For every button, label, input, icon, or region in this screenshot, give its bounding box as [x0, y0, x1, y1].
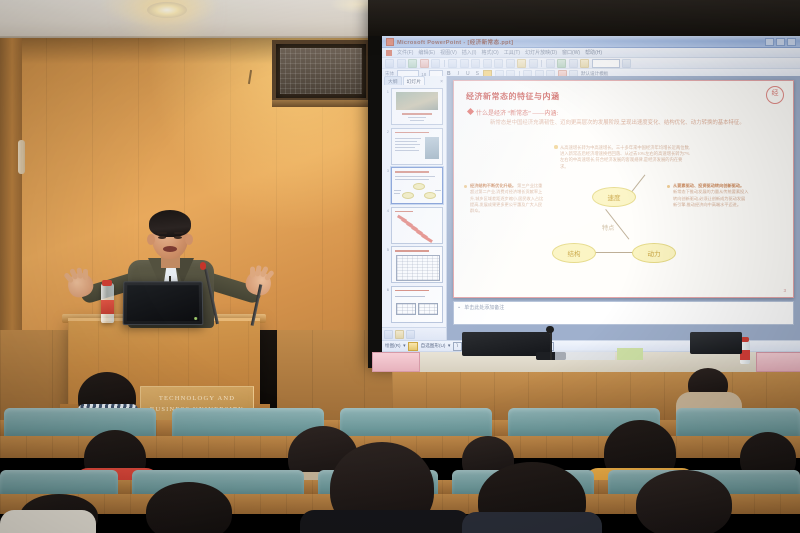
- slideshow-view-icon[interactable]: [406, 330, 415, 339]
- thumbnail-slide-3[interactable]: [391, 167, 443, 204]
- thumbnail-slide-6[interactable]: [391, 286, 443, 323]
- autoshapes-chevron-icon[interactable]: ▾: [448, 343, 451, 349]
- thumbnail-item[interactable]: 3: [385, 167, 443, 204]
- pane-tabs[interactable]: 大纲 幻灯片 ×: [382, 76, 446, 85]
- thumbnail-list[interactable]: 1 2: [382, 86, 446, 328]
- draw-chevron-icon[interactable]: ▾: [403, 343, 406, 349]
- powerpoint-body: 大纲 幻灯片 × 1: [382, 76, 800, 340]
- save-icon[interactable]: [408, 59, 417, 68]
- slide-bullet-text: 什么是经济 “新常态” ——内涵:: [476, 108, 558, 117]
- thumb-line: [435, 190, 441, 191]
- redo-icon[interactable]: [506, 59, 515, 68]
- seal-logo-icon: 经: [766, 86, 784, 104]
- thumbnail-item[interactable]: 4: [385, 207, 443, 244]
- thumb-line: [394, 193, 400, 194]
- toolbar-separator: [444, 60, 445, 67]
- thumb-line: [394, 190, 401, 191]
- speaker-ear-right: [185, 234, 193, 245]
- laptop-screen: [127, 285, 200, 321]
- menu-item-file[interactable]: 文件(F): [397, 49, 413, 56]
- sorter-view-icon[interactable]: [395, 330, 404, 339]
- sub-bullet-icon: [554, 145, 558, 149]
- notes-placeholder[interactable]: 单击此处添加备注: [464, 304, 504, 311]
- thumbnail-slide-5[interactable]: [391, 246, 443, 283]
- thumbnail-number: 2: [385, 128, 389, 134]
- thumbnail-slide-4[interactable]: [391, 207, 443, 244]
- right-note-body: 新常态下推动发展的力量从传统要素投入转向创新驱动,必须让创新成为驱动发展新引擎,…: [673, 189, 748, 207]
- zoom-combo[interactable]: [592, 59, 620, 68]
- thumb-line: [395, 296, 425, 297]
- thumb-line: [395, 179, 429, 180]
- powerpoint-title-bar: Microsoft PowerPoint - [经济新常态.ppt]: [382, 36, 800, 48]
- projection-screen: Microsoft PowerPoint - [经济新常态.ppt] 文件(F)…: [382, 36, 800, 362]
- thumb-node-right: [424, 192, 436, 199]
- maximize-button[interactable]: [776, 38, 785, 46]
- right-note-bullet-icon: [667, 185, 670, 188]
- diagram-node-structure[interactable]: 结构: [552, 243, 596, 263]
- left-note-bullet-icon: [464, 185, 467, 188]
- speaker-ear-left: [147, 234, 155, 245]
- slide-left-note[interactable]: 经济结构不断优化升级。 第三产业比重超过第二产业,消费对经济增长贡献率上升,城乡…: [470, 183, 546, 214]
- diamond-bullet-icon: [467, 108, 474, 115]
- chevron-down-icon[interactable]: ⌄: [457, 304, 461, 310]
- speaker-hair: [149, 210, 191, 237]
- name-plate-left: [372, 352, 420, 372]
- new-file-icon[interactable]: [385, 59, 394, 68]
- undo-icon[interactable]: [494, 59, 503, 68]
- close-button[interactable]: [787, 38, 796, 46]
- toolbar-separator-2: [541, 60, 542, 67]
- thumb-title-bar: [395, 132, 429, 134]
- slide-bullet-line[interactable]: 什么是经济 “新常态” ——内涵:: [468, 108, 781, 117]
- thumbnail-number: 3: [385, 167, 389, 173]
- thumb-line: [395, 138, 421, 139]
- thumb-line: [395, 141, 417, 142]
- slideshow-icon[interactable]: [580, 59, 589, 68]
- finger: [83, 269, 88, 280]
- cut-icon[interactable]: [448, 59, 457, 68]
- thumbnail-slide-1[interactable]: [391, 88, 443, 125]
- speaker-eye-left: [158, 236, 166, 239]
- draw-menu-label[interactable]: 绘图(R): [385, 343, 401, 349]
- recessed-downlight-icon: [147, 2, 187, 18]
- table-microphone-stand: [550, 330, 552, 360]
- laptop-indicator-icon: [194, 317, 197, 320]
- menu-item-tools[interactable]: 工具(T): [504, 49, 520, 56]
- diagram-center-label: 特点: [602, 223, 614, 232]
- standard-toolbar[interactable]: [382, 58, 800, 69]
- table-folder: [617, 348, 643, 360]
- speaker-eyebrow-right: [174, 232, 184, 234]
- minimize-button[interactable]: [765, 38, 774, 46]
- thumb-title-bar: [395, 250, 429, 252]
- right-note-heading: 从要素驱动、投资驱动转向创新驱动。: [673, 183, 744, 188]
- plaque-line-1: TECHNOLOGY AND: [159, 393, 235, 404]
- table-laptop-2: [690, 332, 742, 354]
- lecture-hall-photo: Microsoft PowerPoint - [经济新常态.ppt] 文件(F)…: [0, 0, 800, 533]
- podium-microphone-head: [200, 262, 206, 270]
- left-note-heading: 经济结构不断优化升级。: [470, 183, 516, 188]
- menu-item-slideshow[interactable]: 幻灯片放映(D): [525, 49, 557, 56]
- format-painter-icon[interactable]: [483, 59, 492, 68]
- thumb-line: [395, 147, 415, 148]
- copy-icon[interactable]: [460, 59, 469, 68]
- open-folder-icon[interactable]: [397, 59, 406, 68]
- slide-page-number: 3: [783, 288, 786, 293]
- print-preview-icon[interactable]: [431, 59, 440, 68]
- thumb-line: [402, 113, 432, 115]
- thumb-line: [408, 117, 426, 118]
- paste-icon[interactable]: [471, 59, 480, 68]
- pane-footer[interactable]: [382, 327, 446, 340]
- podium-bottle-cap: [102, 280, 112, 286]
- window-controls[interactable]: [765, 38, 796, 46]
- help-icon[interactable]: [622, 59, 631, 68]
- slide-editing-stage[interactable]: 经济新常态的特征与内涵 经 什么是经济 “新常态” ——内涵: 新常态是中国经济…: [447, 76, 800, 340]
- thumb-photo: [396, 92, 438, 110]
- menu-item-edit[interactable]: 编辑(E): [418, 49, 435, 56]
- thumb-title-bar: [395, 290, 429, 292]
- powerpoint-app-icon: [386, 38, 394, 46]
- podium-bottle-label: [101, 300, 114, 314]
- thumb-line: [395, 176, 435, 177]
- student-coat-black: [300, 510, 470, 533]
- menu-item-insert[interactable]: 插入(I): [462, 49, 477, 56]
- grid-icon[interactable]: [569, 59, 578, 68]
- thumbnail-number: 5: [385, 246, 389, 252]
- projection-screen-top-bar: [368, 0, 800, 36]
- tab-outline[interactable]: 大纲: [384, 76, 402, 85]
- print-icon[interactable]: [420, 59, 429, 68]
- fill-color-icon[interactable]: [408, 342, 418, 351]
- autoshapes-label[interactable]: 自选图形(U): [421, 343, 446, 349]
- thumb-table: [396, 255, 440, 281]
- thumbnail-number: 4: [385, 207, 389, 213]
- table-paper: [555, 350, 615, 360]
- thumb-table: [418, 303, 438, 315]
- wall-fixture: [18, 140, 25, 174]
- speaker-grille-icon: [280, 48, 362, 94]
- slide-canvas[interactable]: 经济新常态的特征与内涵 经 什么是经济 “新常态” ——内涵: 新常态是中国经济…: [453, 80, 794, 298]
- slide-sub-note[interactable]: 从高速增长转为中高速增长。三十多年来中国经济年均增长近两位数,进入新常态后经济增…: [560, 145, 690, 170]
- thumb-line: [410, 120, 424, 121]
- close-pane-icon[interactable]: ×: [440, 79, 444, 85]
- wall-corner-column: [0, 38, 22, 378]
- window-title: Microsoft PowerPoint - [经济新常态.ppt]: [397, 38, 513, 46]
- document-icon: [386, 50, 392, 56]
- name-plate-right: [756, 352, 800, 372]
- wall-shelf: [272, 100, 376, 107]
- thumb-title-bar: [395, 171, 429, 173]
- thumb-line: [395, 144, 420, 145]
- thumbnail-item[interactable]: 6: [385, 286, 443, 323]
- normal-view-icon[interactable]: [384, 330, 393, 339]
- thumbnail-item[interactable]: 1: [385, 88, 443, 125]
- menu-item-view[interactable]: 视图(V): [440, 49, 457, 56]
- speaker-eye-right: [174, 236, 182, 239]
- student-coat-navy: [462, 512, 602, 533]
- bottle-cap-icon: [741, 337, 749, 342]
- student-head: [636, 470, 732, 533]
- slide-right-note[interactable]: 从要素驱动、投资驱动转向创新驱动。 新常态下推动发展的力量从传统要素投入转向创新…: [673, 183, 749, 208]
- thumb-line: [395, 150, 419, 151]
- insert-table-icon[interactable]: [529, 59, 538, 68]
- tab-slides[interactable]: 幻灯片: [403, 76, 425, 85]
- notes-pane[interactable]: ⌄ 单击此处添加备注: [453, 301, 794, 325]
- powerpoint-window[interactable]: Microsoft PowerPoint - [经济新常态.ppt] 文件(F)…: [382, 36, 800, 362]
- wall-speaker-panel: [272, 40, 370, 102]
- thumb-table: [396, 303, 416, 315]
- thumb-photo: [425, 137, 439, 159]
- insert-chart-icon[interactable]: [517, 59, 526, 68]
- line-icon[interactable]: \: [453, 342, 462, 351]
- speaker-mouth: [163, 246, 177, 252]
- diagram-node-speed[interactable]: 速度: [592, 187, 636, 207]
- menu-bar[interactable]: 文件(F) 编辑(E) 视图(V) 插入(I) 格式(O) 工具(T) 幻灯片放…: [382, 48, 800, 58]
- speaker-eyebrow-left: [157, 232, 167, 234]
- thumb-node-top: [413, 183, 425, 190]
- menu-item-window[interactable]: 窗口(W): [562, 49, 580, 56]
- slide-thumbnail-pane[interactable]: 大纲 幻灯片 × 1: [382, 76, 447, 340]
- hyperlink-icon[interactable]: [546, 59, 555, 68]
- student-coat-light: [0, 510, 96, 533]
- thumbnail-number: 6: [385, 286, 389, 292]
- thumbnail-slide-2[interactable]: [391, 128, 443, 165]
- table-microphone-head: [546, 326, 554, 333]
- podium-laptop: [123, 281, 204, 325]
- spelling-icon[interactable]: [557, 59, 566, 68]
- menu-item-help[interactable]: 帮助(H): [585, 49, 602, 56]
- thumbnail-item[interactable]: 5: [385, 246, 443, 283]
- slide-paragraph[interactable]: 新常态是中国经济充满韧性、迈向更高层次的发展阶段,呈现出速度变化、结构优化、动力…: [480, 119, 777, 127]
- slide-title[interactable]: 经济新常态的特征与内涵: [466, 91, 560, 102]
- thumb-node-left: [402, 192, 414, 199]
- student-head: [146, 482, 232, 533]
- thumbnail-number: 1: [385, 88, 389, 94]
- diagram-node-driver[interactable]: 动力: [632, 243, 676, 263]
- thumbnail-item[interactable]: 2: [385, 128, 443, 165]
- thumb-line: [395, 211, 413, 213]
- menu-item-format[interactable]: 格式(O): [481, 49, 498, 56]
